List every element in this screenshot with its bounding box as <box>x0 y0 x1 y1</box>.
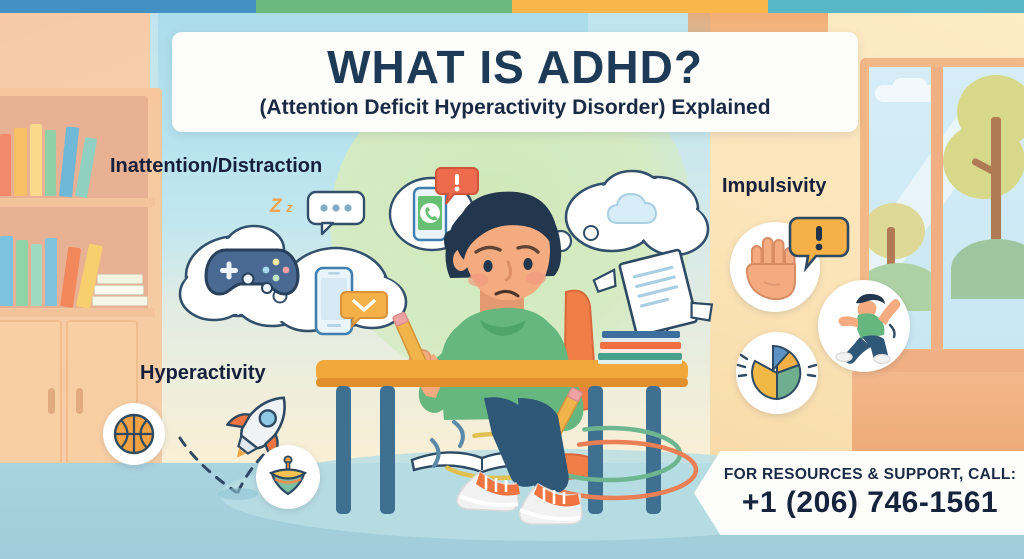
bookshelf-book <box>16 240 28 306</box>
bookshelf-book <box>45 238 57 306</box>
exclamation-bubble-icon <box>788 216 850 272</box>
top-strip-teal <box>768 0 1024 13</box>
sleep-zz-icon: Z z <box>270 196 293 218</box>
top-strip-blue <box>0 0 256 13</box>
game-controller-icon <box>204 242 300 300</box>
title-card: WHAT IS ADHD? (Attention Deficit Hyperac… <box>172 32 858 132</box>
cabinet-handle <box>76 388 83 414</box>
window-cloud <box>893 78 927 93</box>
top-color-strip <box>0 0 1024 13</box>
desk-book <box>600 342 681 353</box>
pie-chart-icon <box>736 332 818 414</box>
page-title: WHAT IS ADHD? <box>327 44 703 91</box>
running-child-icon <box>818 280 910 372</box>
contact-banner[interactable]: FOR RESOURCES & SUPPORT, CALL: +1 (206) … <box>694 451 1024 535</box>
sneaker <box>520 484 582 524</box>
top-strip-orange <box>512 0 768 13</box>
bookshelf-book <box>31 244 42 306</box>
bookshelf-book <box>0 134 11 196</box>
bookshelf-book <box>75 137 97 198</box>
desk-book <box>598 353 682 364</box>
window-tree-foliage <box>943 123 1024 199</box>
window-bush <box>951 239 1024 299</box>
page-subtitle: (Attention Deficit Hyperactivity Disorde… <box>259 96 770 120</box>
adhd-infographic-poster: WHAT IS ADHD? (Attention Deficit Hyperac… <box>0 0 1024 559</box>
sneaker <box>457 472 520 511</box>
bookshelf-books-top <box>0 96 146 200</box>
bookshelf-book <box>45 130 56 196</box>
basketball-icon <box>103 403 165 465</box>
desk-book <box>602 331 680 342</box>
bookshelf-book <box>0 236 13 306</box>
book-stack-icon <box>598 330 682 364</box>
spinning-top-icon <box>256 445 320 509</box>
bookshelf-book <box>14 128 27 196</box>
banner-phone-number[interactable]: +1 (206) 746-1561 <box>742 486 998 520</box>
cabinet-handle <box>48 388 55 414</box>
label-hyperactivity: Hyperactivity <box>140 362 266 385</box>
window-mullion <box>931 67 943 349</box>
alert-badge-icon <box>434 166 480 208</box>
label-impulsivity: Impulsivity <box>722 175 826 198</box>
sleep-z-small-letter: z <box>286 200 293 215</box>
label-inattention: Inattention/Distraction <box>110 155 322 178</box>
student-legs <box>392 398 642 558</box>
sleep-zz-letter: Z <box>270 196 282 217</box>
bookshelf-book <box>30 124 42 196</box>
banner-call-to-action: FOR RESOURCES & SUPPORT, CALL: <box>724 466 1016 484</box>
top-strip-green <box>256 0 512 13</box>
bookshelf-flat-books <box>92 270 148 306</box>
